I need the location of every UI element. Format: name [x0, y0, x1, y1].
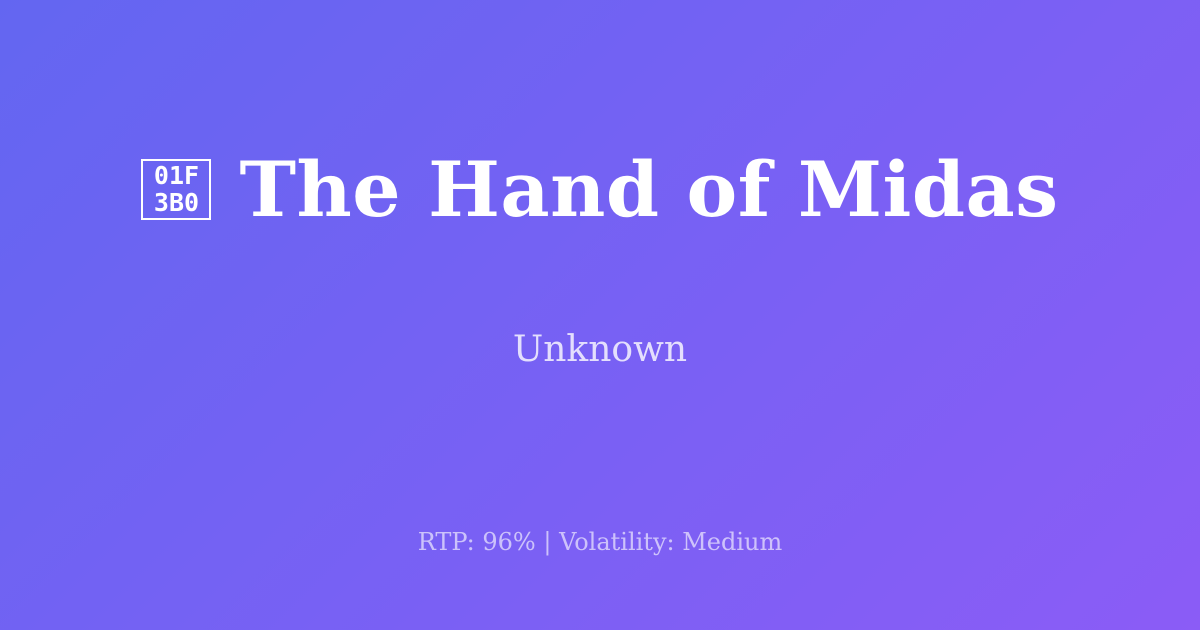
provider-subtitle: Unknown	[513, 328, 687, 371]
og-preview-card: 01F 3B0 The Hand of Midas Unknown RTP: 9…	[0, 0, 1200, 630]
tofu-codepoint-bottom: 3B0	[154, 189, 199, 216]
hero-section: 01F 3B0 The Hand of Midas Unknown	[0, 0, 1200, 470]
tofu-codepoint-top: 01F	[154, 162, 199, 189]
stats-footer: RTP: 96% | Volatility: Medium	[0, 528, 1200, 557]
slot-machine-icon: 01F 3B0	[141, 159, 211, 220]
page-title: The Hand of Midas	[239, 150, 1058, 230]
title-row: 01F 3B0 The Hand of Midas	[141, 99, 1058, 281]
